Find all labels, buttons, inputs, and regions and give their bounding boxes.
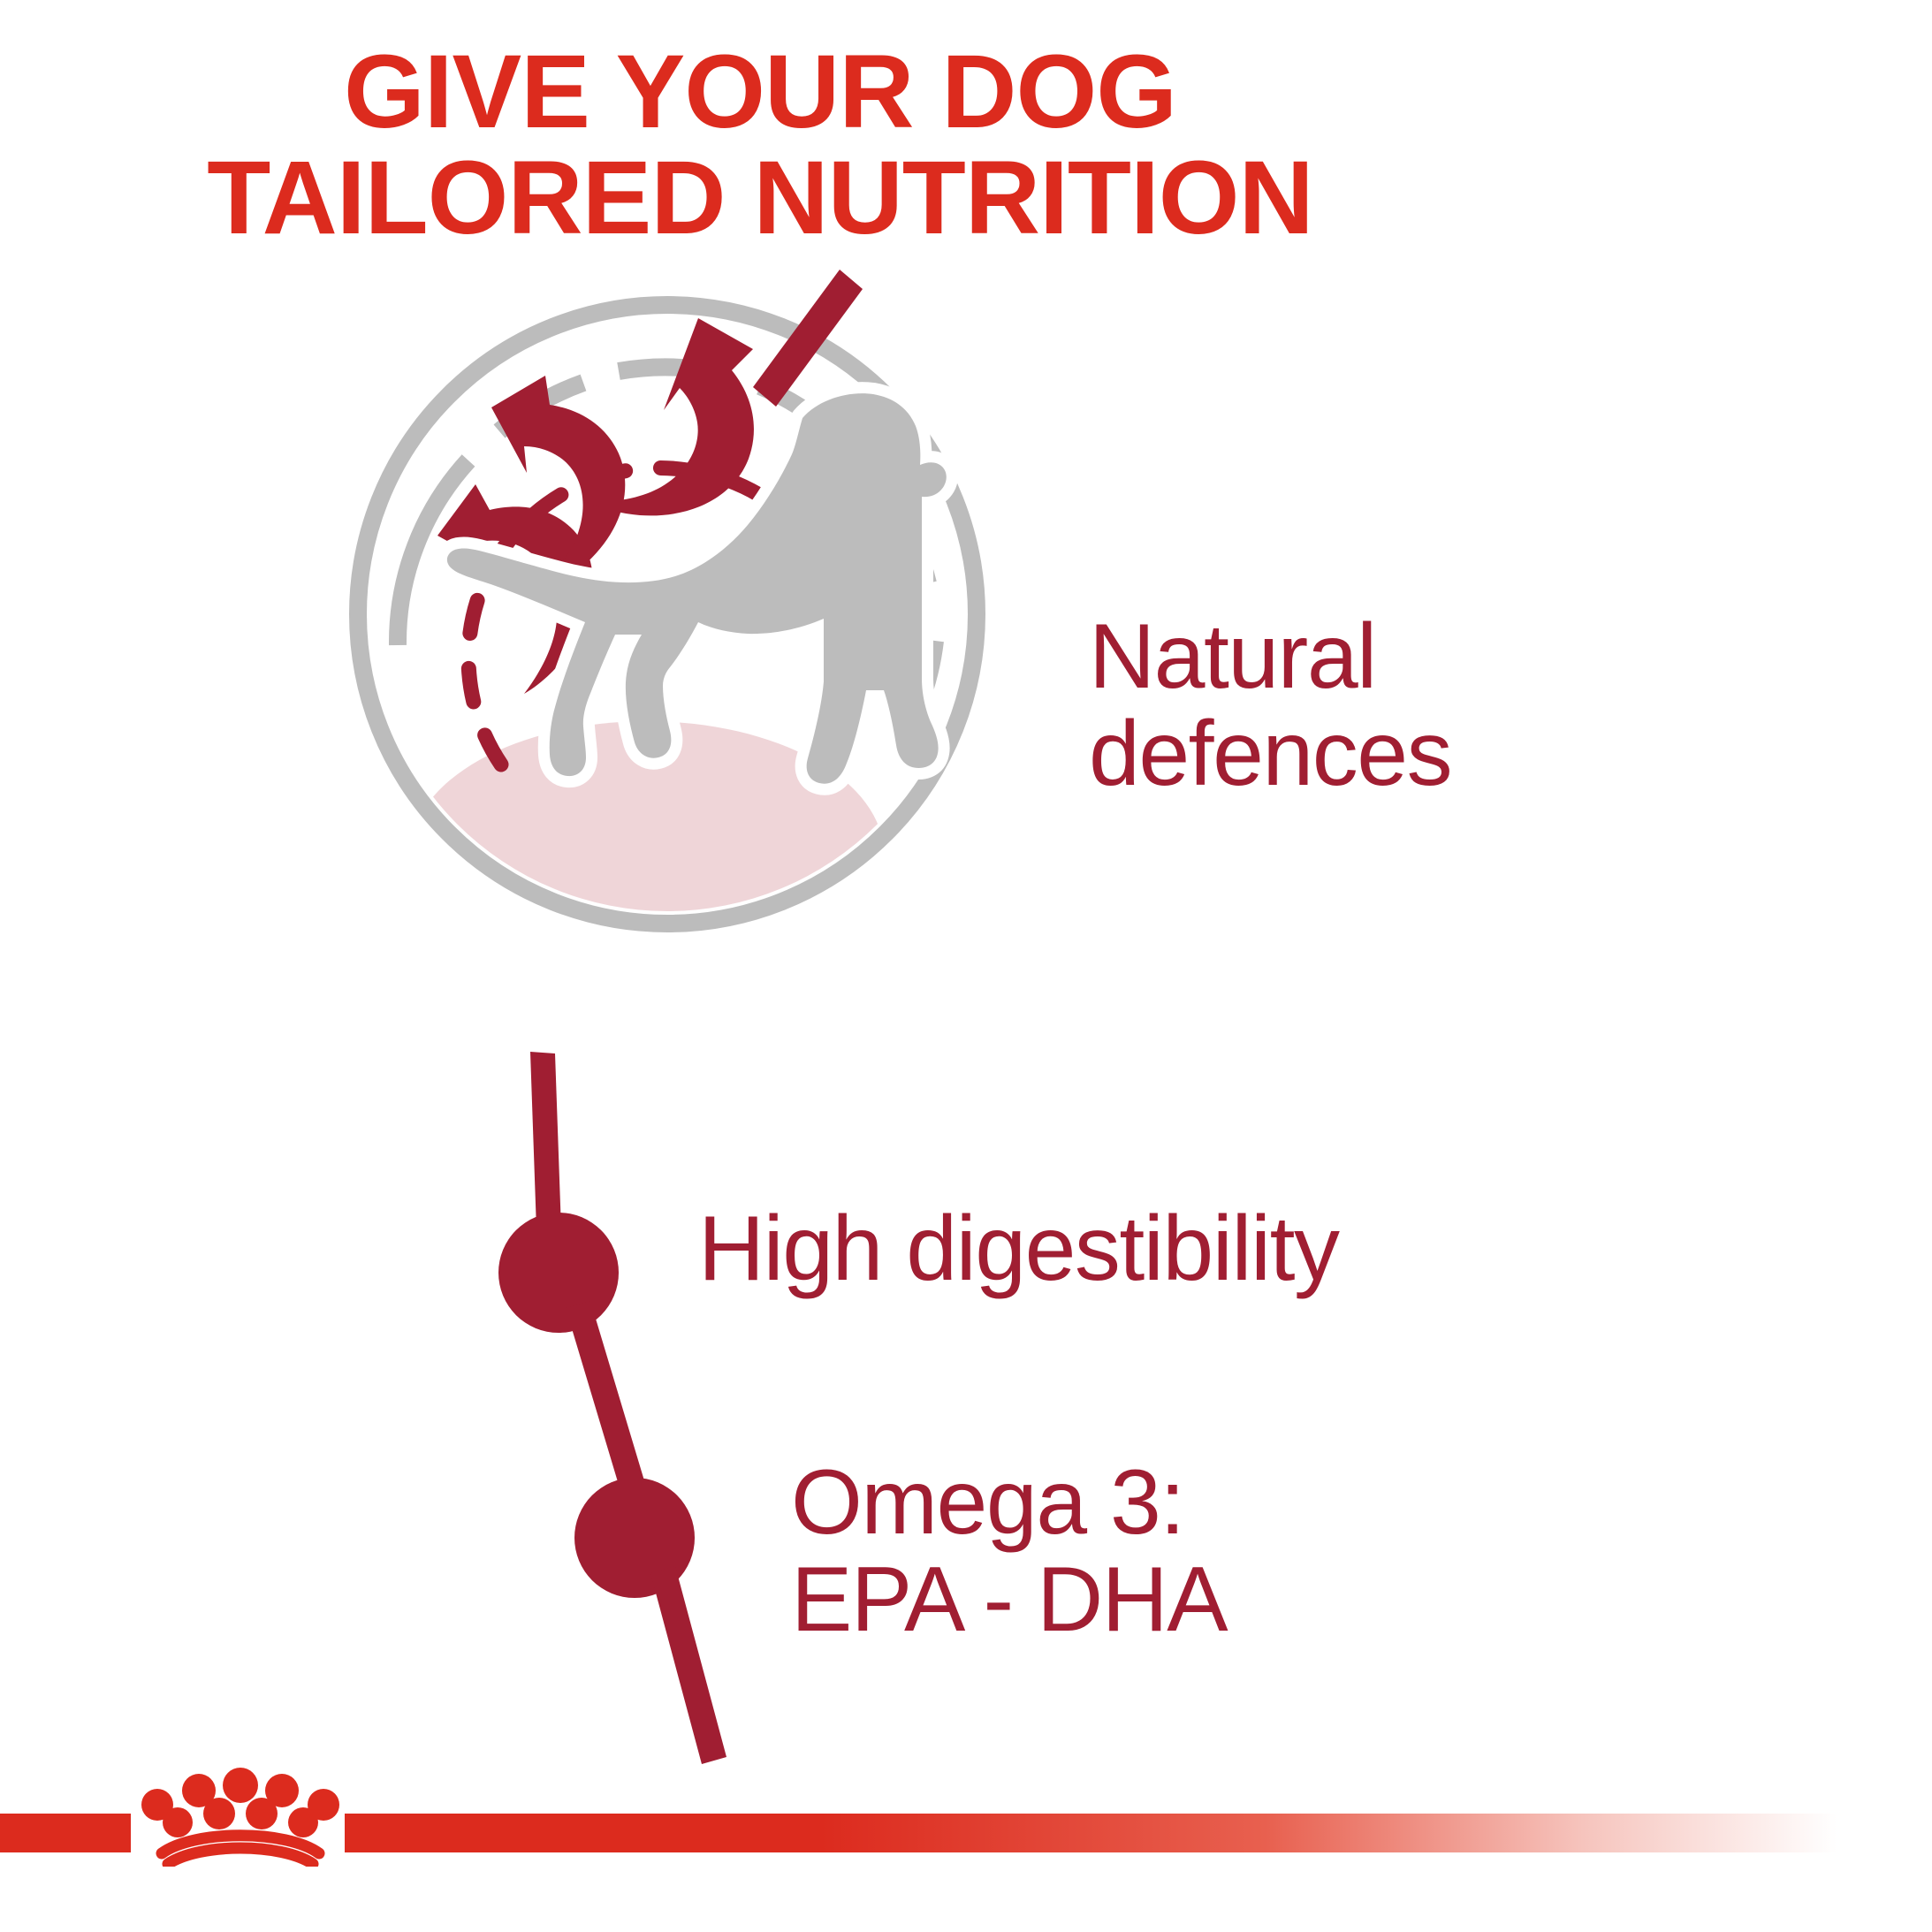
benefit-label-high-digestibility: High digestibility xyxy=(698,1200,1338,1297)
headline-line-1: GIVE YOUR DOG xyxy=(0,39,1520,145)
promo-graphic: GIVE YOUR DOG TAILORED NUTRITION xyxy=(0,0,1932,1932)
headline-line-2: TAILORED NUTRITION xyxy=(0,145,1520,251)
benefit-label-natural-defences: Natural defences xyxy=(1089,608,1451,802)
royal-canin-crown-logo xyxy=(133,1764,348,1867)
brand-bar-left-segment xyxy=(0,1814,131,1852)
connector-top-stem xyxy=(707,256,901,451)
connector-segment-3 xyxy=(650,1566,726,1764)
natural-defences-icon xyxy=(318,265,1016,963)
page-title: GIVE YOUR DOG TAILORED NUTRITION xyxy=(0,39,1520,252)
crown-dots xyxy=(141,1768,339,1837)
brand-bar-right-segment xyxy=(345,1814,1932,1852)
brand-bar xyxy=(0,1814,1932,1852)
connector-dot-1 xyxy=(498,1213,619,1333)
benefit-connector-line xyxy=(477,1043,848,1785)
benefit-label-omega-3: Omega 3: EPA - DHA xyxy=(791,1454,1227,1648)
crown-arcs xyxy=(162,1836,319,1864)
